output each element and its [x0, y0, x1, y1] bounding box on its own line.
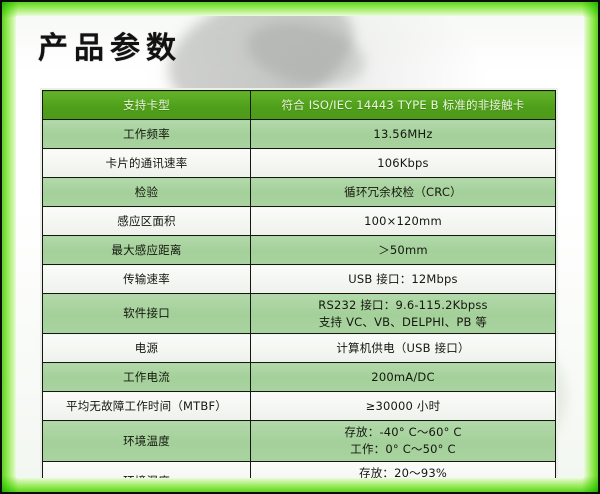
table-row: 环境湿度存放：20～93%工作：20～93% — [43, 461, 556, 478]
spec-value-cell: 符合 ISO/IEC 14443 TYPE B 标准的非接触卡 — [251, 91, 556, 120]
spec-label-cell: 卡片的通讯速率 — [43, 149, 251, 178]
spec-label-cell: 最大感应距离 — [43, 236, 251, 265]
background-watermark-image — [241, 16, 371, 96]
spec-value-cell: 200mA/DC — [251, 363, 556, 392]
table-row: 传输速率USB 接口：12Mbps — [43, 265, 556, 294]
slide-content-area: 产品参数 支持卡型符合 ISO/IEC 14443 TYPE B 标准的非接触卡… — [16, 16, 584, 478]
spec-value-line: ≥30000 小时 — [255, 398, 551, 415]
table-row: 软件接口RS232 接口：9.6-115.2Kbpss支持 VC、VB、DELP… — [43, 294, 556, 334]
spec-label-cell: 支持卡型 — [43, 91, 251, 120]
spec-value-line: USB 接口：12Mbps — [255, 271, 551, 288]
table-row: 支持卡型符合 ISO/IEC 14443 TYPE B 标准的非接触卡 — [43, 91, 556, 120]
spec-value-cell: ＞50mm — [251, 236, 556, 265]
table-row: 最大感应距离＞50mm — [43, 236, 556, 265]
spec-value-line: ＞50mm — [255, 242, 551, 259]
spec-value-cell: 循环冗余校检（CRC） — [251, 178, 556, 207]
spec-value-cell: ≥30000 小时 — [251, 392, 556, 421]
spec-label-cell: 环境湿度 — [43, 461, 251, 478]
spec-value-line: 符合 ISO/IEC 14443 TYPE B 标准的非接触卡 — [255, 97, 551, 114]
spec-value-cell: 13.56MHz — [251, 120, 556, 149]
spec-value-cell: USB 接口：12Mbps — [251, 265, 556, 294]
spec-value-cell: 存放：-40° C～60° C工作：0° C～50° C — [251, 421, 556, 461]
page-title: 产品参数 — [38, 32, 182, 65]
slide-canvas: 产品参数 支持卡型符合 ISO/IEC 14443 TYPE B 标准的非接触卡… — [0, 0, 600, 494]
spec-label-cell: 感应区面积 — [43, 207, 251, 236]
spec-value-line: 106Kbps — [255, 155, 551, 172]
spec-label-cell: 传输速率 — [43, 265, 251, 294]
spec-value-line: 工作：0° C～50° C — [255, 441, 551, 458]
spec-label-cell: 工作频率 — [43, 120, 251, 149]
spec-value-cell: 计算机供电（USB 接口） — [251, 334, 556, 363]
spec-table-container: 支持卡型符合 ISO/IEC 14443 TYPE B 标准的非接触卡工作频率1… — [40, 88, 558, 478]
spec-value-cell: 100×120mm — [251, 207, 556, 236]
spec-value-line: 200mA/DC — [255, 369, 551, 386]
spec-value-line: RS232 接口：9.6-115.2Kbpss — [255, 297, 551, 314]
spec-value-cell: 存放：20～93%工作：20～93% — [251, 461, 556, 478]
spec-value-line: 存放：-40° C～60° C — [255, 424, 551, 441]
spec-label-cell: 环境温度 — [43, 421, 251, 461]
spec-value-line: 13.56MHz — [255, 126, 551, 143]
table-row: 卡片的通讯速率106Kbps — [43, 149, 556, 178]
table-row: 工作频率13.56MHz — [43, 120, 556, 149]
table-row: 电源计算机供电（USB 接口） — [43, 334, 556, 363]
spec-value-line: 100×120mm — [255, 213, 551, 230]
spec-label-cell: 软件接口 — [43, 294, 251, 334]
table-row: 平均无故障工作时间（MTBF）≥30000 小时 — [43, 392, 556, 421]
spec-value-line: 计算机供电（USB 接口） — [255, 340, 551, 357]
table-row: 工作电流200mA/DC — [43, 363, 556, 392]
spec-label-cell: 工作电流 — [43, 363, 251, 392]
spec-value-line: 循环冗余校检（CRC） — [255, 184, 551, 201]
spec-value-line: 存放：20～93% — [255, 465, 551, 478]
table-row: 检验循环冗余校检（CRC） — [43, 178, 556, 207]
spec-label-cell: 电源 — [43, 334, 251, 363]
spec-value-cell: 106Kbps — [251, 149, 556, 178]
spec-table: 支持卡型符合 ISO/IEC 14443 TYPE B 标准的非接触卡工作频率1… — [42, 90, 556, 478]
spec-value-cell: RS232 接口：9.6-115.2Kbpss支持 VC、VB、DELPHI、P… — [251, 294, 556, 334]
spec-label-cell: 检验 — [43, 178, 251, 207]
spec-value-line: 支持 VC、VB、DELPHI、PB 等 — [255, 314, 551, 331]
table-row: 感应区面积100×120mm — [43, 207, 556, 236]
table-row: 环境温度存放：-40° C～60° C工作：0° C～50° C — [43, 421, 556, 461]
spec-label-cell: 平均无故障工作时间（MTBF） — [43, 392, 251, 421]
